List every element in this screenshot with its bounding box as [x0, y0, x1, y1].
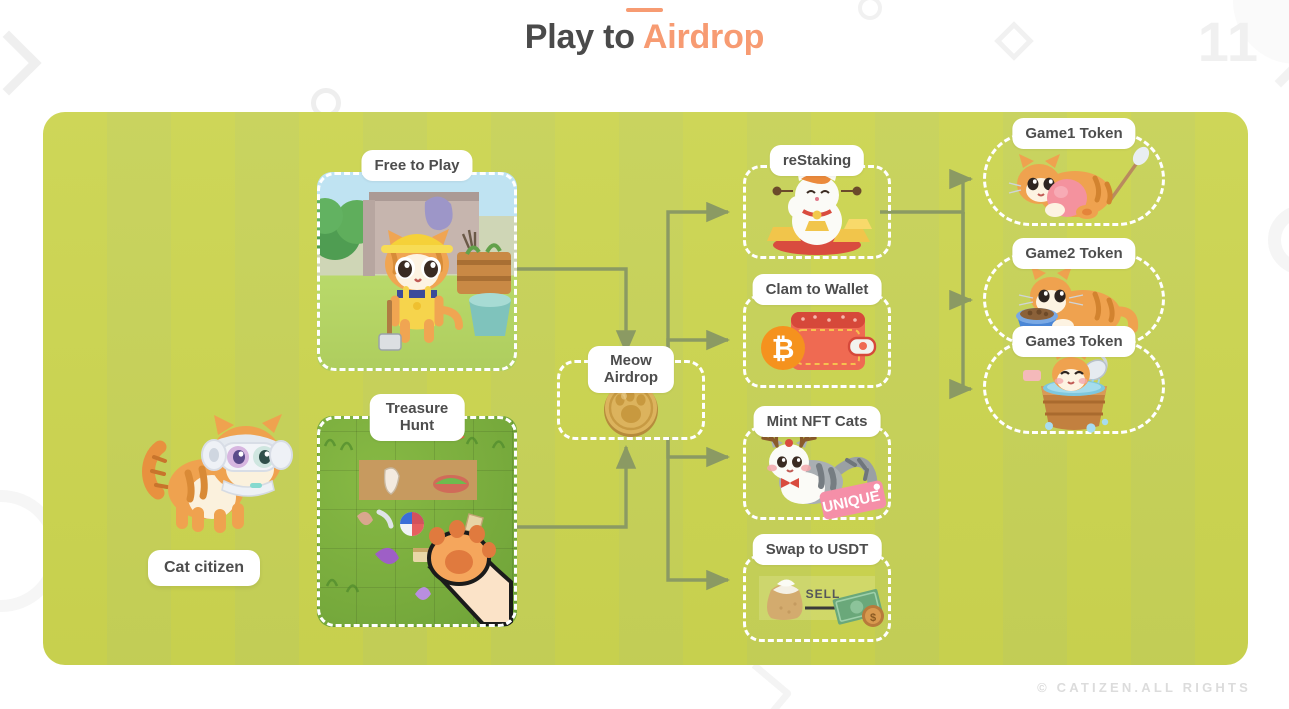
meow-airdrop-label-line1: Meow [610, 352, 652, 369]
svg-text:₿: ₿ [772, 333, 795, 364]
clam-to-wallet-label: Clam to Wallet [753, 274, 882, 305]
game2-token-label: Game2 Token [1012, 238, 1135, 269]
slide-root: 11 Play to Airdrop [0, 0, 1289, 709]
cat-with-vr-goggles-icon [138, 397, 298, 542]
meow-airdrop-label: Meow Airdrop [588, 346, 674, 393]
title-text: Play to Airdrop [0, 18, 1289, 57]
red-wallet-with-bitcoin-icon: ₿ [743, 294, 891, 388]
node-treasure-hunt[interactable]: Treasure Hunt [317, 416, 517, 627]
title-main-text: Play to [525, 18, 643, 56]
wire-free-to-play-to-hub [517, 269, 626, 352]
node-clam-to-wallet[interactable]: ₿ Clam to Wallet [743, 294, 891, 388]
meow-airdrop-label-line2: Airdrop [604, 369, 658, 386]
free-to-play-label: Free to Play [361, 150, 472, 181]
restaking-label: reStaking [770, 145, 864, 176]
page-title: Play to Airdrop [0, 8, 1289, 57]
node-game1-token[interactable]: Game1 Token [983, 132, 1165, 226]
cat-citizen-label: Cat citizen [148, 550, 260, 586]
treasure-hunt-label-line1: Treasure [386, 400, 449, 417]
node-mint-nft-cats[interactable]: UNIQUE Mint NFT Cats [743, 426, 891, 520]
wire-hub-to-clam [668, 340, 728, 362]
node-game3-token[interactable]: Game3 Token [983, 340, 1165, 434]
wire-restaking-to-game1 [880, 179, 971, 212]
node-swap-to-usdt[interactable]: SELL $ Swap to USDT [743, 554, 891, 642]
sack-sell-arrow-cash-icon: SELL $ [743, 554, 891, 642]
svg-text:$: $ [870, 612, 876, 624]
node-restaking[interactable]: reStaking [743, 165, 891, 259]
circle-decoration-right [1268, 205, 1289, 275]
node-free-to-play[interactable]: Free to Play [317, 172, 517, 371]
diagram-panel: Cat citizen [43, 112, 1248, 665]
lucky-cat-with-gold-ingots-icon [743, 165, 891, 259]
wire-treasure-hunt-to-hub [517, 447, 626, 527]
sell-arrow-text: SELL [806, 587, 841, 601]
wire-hub-to-mint [668, 437, 728, 457]
swap-to-usdt-label: Swap to USDT [753, 534, 882, 565]
treasure-hunt-label-line2: Hunt [400, 417, 434, 434]
copyright-footer: © CATIZEN.ALL RIGHTS [1037, 680, 1251, 695]
chevron-decoration-bottom [725, 662, 793, 709]
mint-nft-cats-label: Mint NFT Cats [754, 406, 881, 437]
game1-token-label: Game1 Token [1012, 118, 1135, 149]
treasure-hunt-border [317, 416, 517, 627]
reindeer-cat-with-unique-tag-icon: UNIQUE [743, 426, 891, 520]
treasure-hunt-label: Treasure Hunt [370, 394, 465, 441]
free-to-play-border [317, 172, 517, 371]
node-meow-airdrop[interactable]: Meow Airdrop [557, 360, 705, 440]
title-accent-text: Airdrop [643, 18, 764, 56]
cat-citizen-avatar [138, 397, 298, 542]
game3-token-label: Game3 Token [1012, 326, 1135, 357]
title-accent-dash [626, 8, 663, 12]
